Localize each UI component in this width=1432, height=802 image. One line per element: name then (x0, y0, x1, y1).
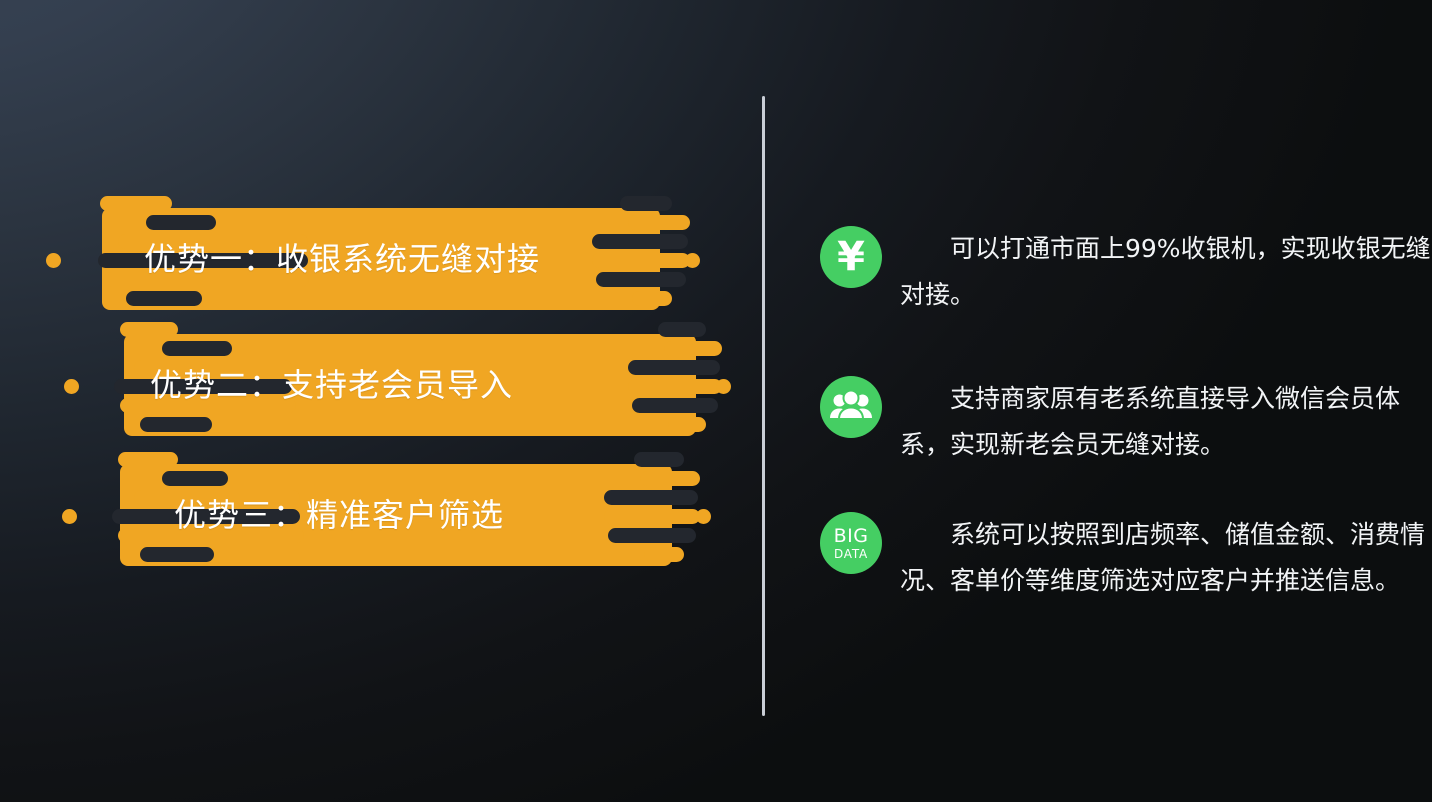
banner-notch (628, 360, 720, 375)
banner-speedbar (640, 471, 700, 486)
banner-speedbar (118, 452, 178, 467)
banner-notch (634, 452, 684, 467)
banner-speedbar (604, 509, 700, 524)
banner-dot (62, 509, 77, 524)
banner-speedbar (628, 215, 690, 230)
big-data-line-2: DATA (834, 548, 869, 560)
banner-speedbar (668, 417, 706, 432)
people-group-icon (820, 376, 882, 438)
banner-speedbar (664, 341, 722, 356)
feature-description: 支持商家原有老系统直接导入微信会员体系，实现新老会员无缝对接。 (900, 376, 1432, 468)
yen-glyph: ¥ (837, 237, 865, 277)
descriptions-column: ¥ 可以打通市面上99%收银机，实现收银无缝对接。 支持商家原有老 (820, 0, 1432, 802)
feature-row: BIG DATA 系统可以按照到店频率、储值金额、消费情况、客单价等维度筛选对应… (820, 512, 1432, 604)
advantages-column: 优势一：收银系统无缝对接 优势二：支持老会员导入 (0, 0, 760, 802)
banner-dot (46, 253, 61, 268)
banner-dot (696, 509, 711, 524)
advantage-banner-3[interactable]: 优势三：精准客户筛选 (58, 452, 718, 578)
big-data-label: BIG DATA (834, 527, 869, 560)
banner-dot (64, 379, 79, 394)
advantage-banner-1[interactable]: 优势一：收银系统无缝对接 (40, 196, 700, 322)
advantage-banner-2-label: 优势二：支持老会员导入 (150, 322, 513, 448)
slide-canvas: 优势一：收银系统无缝对接 优势二：支持老会员导入 (0, 0, 1432, 802)
banner-notch (620, 196, 672, 211)
banner-speedbar (644, 547, 684, 562)
big-data-line-1: BIG (834, 527, 869, 546)
banner-dot (685, 253, 700, 268)
feature-description: 可以打通市面上99%收银机，实现收银无缝对接。 (900, 226, 1432, 318)
feature-row: ¥ 可以打通市面上99%收银机，实现收银无缝对接。 (820, 226, 1432, 318)
banner-notch (658, 322, 706, 337)
yen-currency-icon: ¥ (820, 226, 882, 288)
advantage-banner-1-label: 优势一：收银系统无缝对接 (144, 196, 540, 322)
banner-notch (632, 398, 718, 413)
banner-speedbar (628, 379, 722, 394)
advantage-banner-3-label: 优势三：精准客户筛选 (174, 452, 504, 578)
banner-notch (596, 272, 686, 287)
banner-notch (592, 234, 688, 249)
banner-speedbar (632, 291, 672, 306)
feature-row: 支持商家原有老系统直接导入微信会员体系，实现新老会员无缝对接。 (820, 376, 1432, 468)
vertical-divider (762, 96, 765, 716)
feature-description: 系统可以按照到店频率、储值金额、消费情况、客单价等维度筛选对应客户并推送信息。 (900, 512, 1432, 604)
banner-notch (604, 490, 698, 505)
advantage-banner-2[interactable]: 优势二：支持老会员导入 (62, 322, 722, 448)
banner-dot (716, 379, 731, 394)
big-data-icon: BIG DATA (820, 512, 882, 574)
banner-speedbar (592, 253, 690, 268)
banner-notch (608, 528, 696, 543)
